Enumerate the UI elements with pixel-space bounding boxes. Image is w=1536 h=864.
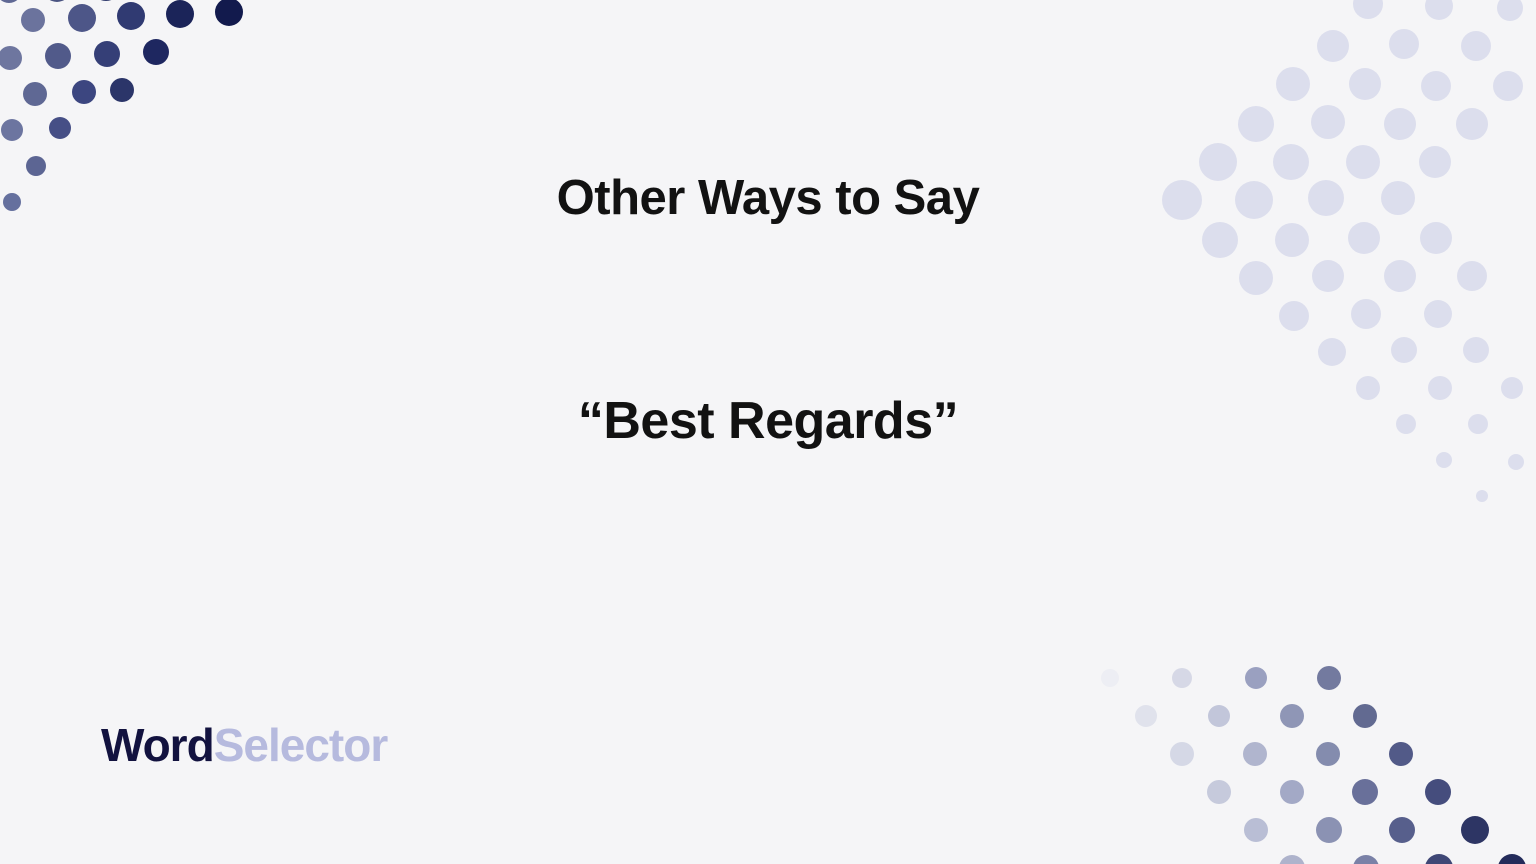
decorative-dot xyxy=(1279,855,1305,864)
decorative-dot xyxy=(1244,818,1268,842)
decorative-dot xyxy=(1352,779,1378,805)
decorative-dot xyxy=(1311,105,1345,139)
decorative-dot xyxy=(1101,669,1119,687)
decorative-dot xyxy=(1245,667,1267,689)
decorative-dot xyxy=(1275,223,1309,257)
decorative-dot xyxy=(1461,816,1489,844)
decorative-dot xyxy=(49,117,71,139)
decorative-dot xyxy=(1312,260,1344,292)
brand-logo[interactable]: WordSelector xyxy=(101,722,387,768)
slide-canvas: Other Ways to Say “Best Regards” WordSel… xyxy=(0,0,1536,864)
decorative-dot xyxy=(1276,67,1310,101)
decorative-dot xyxy=(1457,261,1487,291)
decorative-dot xyxy=(215,0,243,26)
decorative-dot xyxy=(1508,454,1524,470)
decorative-dot xyxy=(1389,817,1415,843)
decorative-dot xyxy=(1389,742,1413,766)
decorative-dot xyxy=(1208,705,1230,727)
decorative-dot xyxy=(1280,704,1304,728)
decorative-dot xyxy=(21,8,45,32)
decorative-dot xyxy=(72,80,96,104)
decorative-dot xyxy=(1424,300,1452,328)
brand-logo-selector: Selector xyxy=(214,719,388,771)
decorative-dot xyxy=(143,39,169,65)
decorative-dot xyxy=(1353,0,1383,19)
eyebrow-heading: Other Ways to Say xyxy=(0,170,1536,226)
decorative-dot xyxy=(1476,490,1488,502)
decorative-dot xyxy=(117,2,145,30)
decorative-dot xyxy=(1318,338,1346,366)
decorative-dot xyxy=(94,41,120,67)
decorative-dot xyxy=(1316,817,1342,843)
decorative-dot xyxy=(1425,0,1453,20)
decorative-dot xyxy=(1351,299,1381,329)
decorative-dot xyxy=(1421,71,1451,101)
decorative-dot xyxy=(1436,452,1452,468)
decorative-dot xyxy=(91,0,121,1)
decorative-dot xyxy=(1425,779,1451,805)
decorative-dot xyxy=(68,4,96,32)
brand-logo-word: Word xyxy=(101,719,214,771)
decorative-dot xyxy=(1243,742,1267,766)
decorative-dot xyxy=(1493,71,1523,101)
decorative-dot xyxy=(1239,261,1273,295)
decorative-dot xyxy=(1384,108,1416,140)
decorative-dot xyxy=(1316,742,1340,766)
decorative-dot xyxy=(43,0,71,2)
decorative-dot xyxy=(1389,29,1419,59)
decorative-dot xyxy=(1280,780,1304,804)
decorative-dot xyxy=(1353,855,1379,864)
decorative-dot xyxy=(1497,0,1523,21)
decorative-dot xyxy=(166,0,194,28)
decorative-dot xyxy=(1384,260,1416,292)
dot-pattern-bottom-right-icon xyxy=(1086,654,1536,864)
decorative-dot xyxy=(1172,668,1192,688)
decorative-dot xyxy=(1317,666,1341,690)
decorative-dot xyxy=(1317,30,1349,62)
decorative-dot xyxy=(110,78,134,102)
decorative-dot xyxy=(1353,704,1377,728)
decorative-dot xyxy=(45,43,71,69)
decorative-dot xyxy=(1202,222,1238,258)
decorative-dot xyxy=(1,119,23,141)
decorative-dot xyxy=(1420,222,1452,254)
decorative-dot xyxy=(1391,337,1417,363)
decorative-dot xyxy=(23,82,47,106)
decorative-dot xyxy=(1425,854,1453,864)
decorative-dot xyxy=(1135,705,1157,727)
decorative-dot xyxy=(1461,31,1491,61)
decorative-dot xyxy=(1279,301,1309,331)
decorative-dot xyxy=(1170,742,1194,766)
decorative-dot xyxy=(1456,108,1488,140)
page-title: “Best Regards” xyxy=(0,392,1536,452)
decorative-dot xyxy=(1463,337,1489,363)
decorative-dot xyxy=(0,46,22,70)
decorative-dot xyxy=(0,0,22,3)
decorative-dot xyxy=(1348,222,1380,254)
decorative-dot xyxy=(1349,68,1381,100)
decorative-dot xyxy=(1498,854,1526,864)
decorative-dot xyxy=(1238,106,1274,142)
decorative-dot xyxy=(1207,780,1231,804)
dot-pattern-top-right-icon xyxy=(1136,0,1536,540)
